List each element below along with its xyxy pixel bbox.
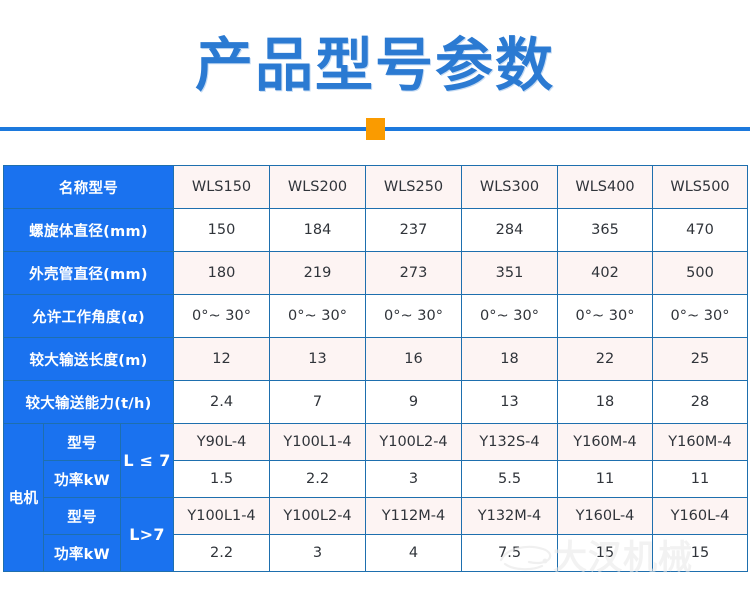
table-cell: 0°~ 30° (174, 295, 270, 338)
table-cell: 0°~ 30° (558, 295, 653, 338)
table-row-motor-model-gt7: 型号 L>7 Y100L1-4 Y100L2-4 Y112M-4 Y132M-4… (4, 498, 748, 535)
header-model-wls200: WLS200 (270, 166, 366, 209)
table-cell: 219 (270, 252, 366, 295)
table-cell: 13 (462, 381, 558, 424)
table-cell: Y160M-4 (558, 424, 653, 461)
table-cell: 365 (558, 209, 653, 252)
table-cell: 0°~ 30° (366, 295, 462, 338)
table-row: 较大输送能力(t/h) 2.4 7 9 13 18 28 (4, 381, 748, 424)
table-row-motor-power-le7: 功率kW 1.5 2.2 3 5.5 11 11 (4, 461, 748, 498)
table-row: 允许工作角度(α) 0°~ 30° 0°~ 30° 0°~ 30° 0°~ 30… (4, 295, 748, 338)
table-cell: 273 (366, 252, 462, 295)
table-cell: 1.5 (174, 461, 270, 498)
table-cell: 3 (270, 535, 366, 572)
table-cell: 9 (366, 381, 462, 424)
table-cell: Y132S-4 (462, 424, 558, 461)
table-cell: 237 (366, 209, 462, 252)
motor-condition-label-gt7: L>7 (121, 498, 174, 572)
table-cell: 2.4 (174, 381, 270, 424)
row-label: 允许工作角度(α) (4, 295, 174, 338)
table-cell: 0°~ 30° (462, 295, 558, 338)
table-cell: 2.2 (270, 461, 366, 498)
table-cell: Y160L-4 (653, 498, 748, 535)
table-cell: Y100L2-4 (270, 498, 366, 535)
motor-condition-label-le7: L ≤ 7 (121, 424, 174, 498)
table-row-motor-model-le7: 电机 型号 L ≤ 7 Y90L-4 Y100L1-4 Y100L2-4 Y13… (4, 424, 748, 461)
table-cell: 351 (462, 252, 558, 295)
table-cell: Y100L2-4 (366, 424, 462, 461)
table-cell: 15 (558, 535, 653, 572)
table-cell: 15 (653, 535, 748, 572)
table-row: 外壳管直径(mm) 180 219 273 351 402 500 (4, 252, 748, 295)
table-header-row: 名称型号 WLS150 WLS200 WLS250 WLS300 WLS400 … (4, 166, 748, 209)
header-label-cell: 名称型号 (4, 166, 174, 209)
motor-sub-label: 功率kW (44, 535, 121, 572)
motor-sub-label: 功率kW (44, 461, 121, 498)
table-cell: 12 (174, 338, 270, 381)
table-cell: 16 (366, 338, 462, 381)
table-cell: 18 (462, 338, 558, 381)
title-divider (0, 118, 750, 140)
motor-sub-label: 型号 (44, 498, 121, 535)
table-cell: 11 (558, 461, 653, 498)
header-model-wls300: WLS300 (462, 166, 558, 209)
table-cell: Y112M-4 (366, 498, 462, 535)
table-cell: 5.5 (462, 461, 558, 498)
header-model-wls500: WLS500 (653, 166, 748, 209)
table-cell: 0°~ 30° (270, 295, 366, 338)
motor-group-label: 电机 (4, 424, 44, 572)
table-cell: 402 (558, 252, 653, 295)
table-cell: 3 (366, 461, 462, 498)
row-label: 螺旋体直径(mm) (4, 209, 174, 252)
header-model-wls150: WLS150 (174, 166, 270, 209)
row-label: 较大输送能力(t/h) (4, 381, 174, 424)
table-cell: 18 (558, 381, 653, 424)
page-title: 产品型号参数 (0, 30, 750, 100)
table-cell: 7 (270, 381, 366, 424)
spec-table-container: 名称型号 WLS150 WLS200 WLS250 WLS300 WLS400 … (3, 165, 747, 572)
table-cell: 470 (653, 209, 748, 252)
table-cell: 284 (462, 209, 558, 252)
product-spec-table: 名称型号 WLS150 WLS200 WLS250 WLS300 WLS400 … (3, 165, 748, 572)
table-cell: 2.2 (174, 535, 270, 572)
motor-sub-label: 型号 (44, 424, 121, 461)
table-cell: 11 (653, 461, 748, 498)
table-cell: Y90L-4 (174, 424, 270, 461)
table-cell: 500 (653, 252, 748, 295)
table-cell: 0°~ 30° (653, 295, 748, 338)
table-row: 螺旋体直径(mm) 150 184 237 284 365 470 (4, 209, 748, 252)
row-label: 外壳管直径(mm) (4, 252, 174, 295)
table-row: 较大输送长度(m) 12 13 16 18 22 25 (4, 338, 748, 381)
table-cell: 184 (270, 209, 366, 252)
table-cell: 22 (558, 338, 653, 381)
table-cell: 150 (174, 209, 270, 252)
table-cell: Y132M-4 (462, 498, 558, 535)
divider-accent-square (366, 118, 385, 140)
table-cell: 28 (653, 381, 748, 424)
table-cell: 13 (270, 338, 366, 381)
table-cell: 4 (366, 535, 462, 572)
table-cell: Y100L1-4 (270, 424, 366, 461)
page-header: 产品型号参数 (0, 0, 750, 165)
table-cell: 180 (174, 252, 270, 295)
header-model-wls250: WLS250 (366, 166, 462, 209)
header-model-wls400: WLS400 (558, 166, 653, 209)
table-cell: Y160M-4 (653, 424, 748, 461)
table-cell: 7.5 (462, 535, 558, 572)
table-cell: 25 (653, 338, 748, 381)
table-cell: Y100L1-4 (174, 498, 270, 535)
row-label: 较大输送长度(m) (4, 338, 174, 381)
table-cell: Y160L-4 (558, 498, 653, 535)
table-row-motor-power-gt7: 功率kW 2.2 3 4 7.5 15 15 (4, 535, 748, 572)
